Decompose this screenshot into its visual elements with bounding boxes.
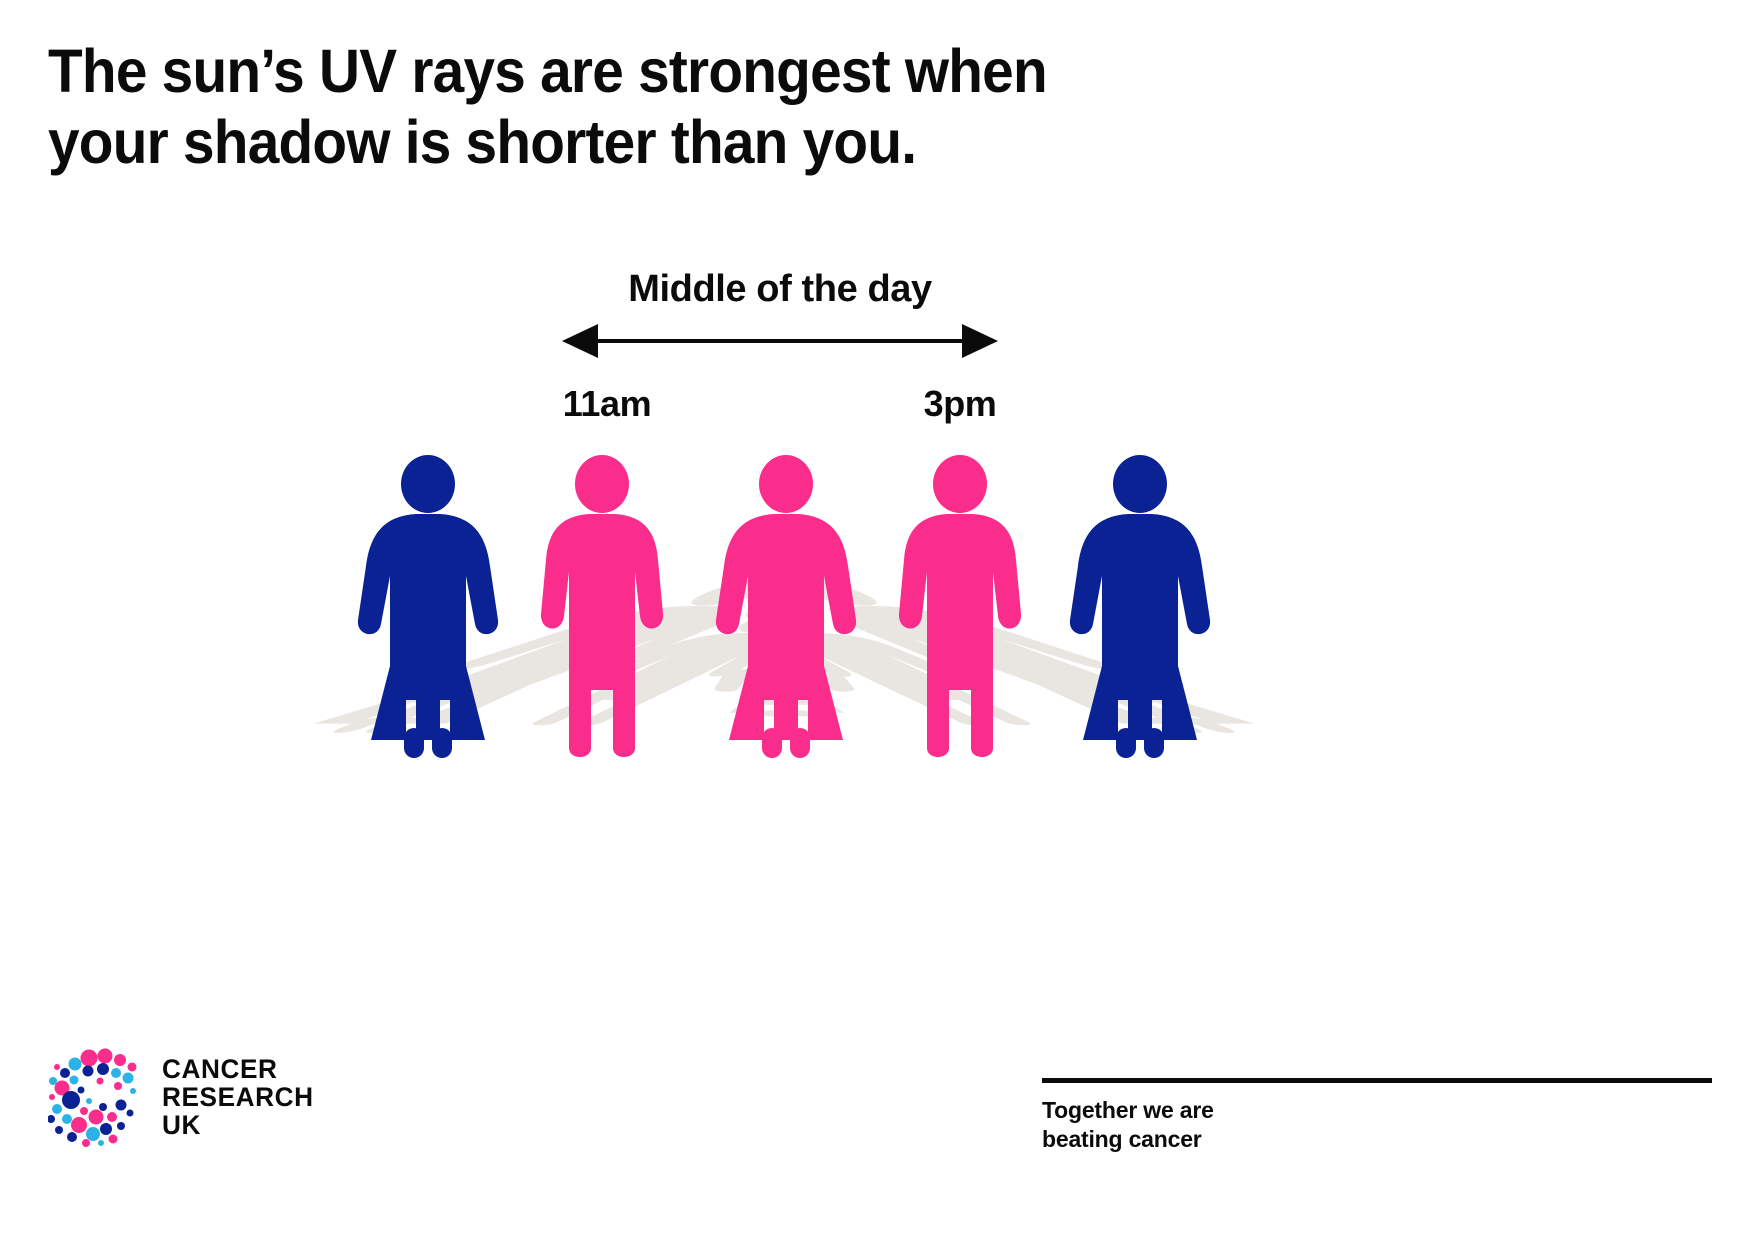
midday-arrow (558, 322, 1002, 360)
figure-3 (716, 455, 856, 758)
cancer-research-uk-logo: CANCER RESEARCH UK (48, 1047, 318, 1147)
strapline-text: Together we are beating cancer (1042, 1096, 1712, 1154)
figure-4 (899, 455, 1021, 757)
double-headed-arrow-icon (558, 322, 1002, 360)
shadow-figure-1 (273, 575, 866, 733)
shadow-figure-3 (711, 656, 857, 717)
shadow-figure-5 (702, 575, 1295, 733)
shadow-figure-2 (498, 611, 862, 726)
page-title: The sun’s UV rays are strongest when you… (48, 36, 1071, 178)
time-label-start: 11am (507, 383, 707, 425)
shadow-figure-4 (695, 611, 1065, 726)
logo-wordmark: CANCER RESEARCH UK (162, 1055, 314, 1139)
figure-5 (1070, 455, 1210, 758)
shadow-group (273, 575, 1295, 733)
cancer-research-uk-dots-c-icon (48, 1047, 148, 1147)
strapline: Together we are beating cancer (1042, 1078, 1712, 1154)
strapline-divider (1042, 1078, 1712, 1083)
time-label-end: 3pm (860, 383, 1060, 425)
figure-2 (541, 455, 663, 757)
midday-label: Middle of the day (558, 268, 1002, 311)
figure-1 (358, 455, 498, 758)
